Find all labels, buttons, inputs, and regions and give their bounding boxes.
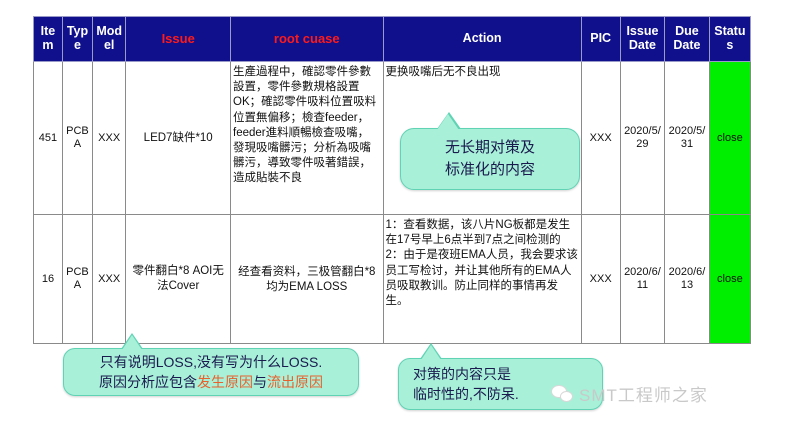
wechat-icon-bubble-small	[560, 391, 573, 402]
cell-item: 451	[34, 62, 63, 215]
cell-model: XXX	[92, 215, 125, 344]
callout-line-1: 只有说明LOSS,没有写为什么LOSS.	[100, 352, 322, 372]
cell-issue: 零件翻白*8 AOI无法Cover	[126, 215, 231, 344]
cell-root-cause: 生產過程中，確認零件參數設置，零件參數規格設置OK；確認零件吸料位置吸料位置無偏…	[231, 62, 384, 215]
status-badge: close	[709, 215, 750, 344]
callout-line-1: 无长期对策及	[445, 137, 535, 159]
callout-line-2: 临时性的,不防呆.	[413, 384, 519, 404]
column-header-issue: Issue	[126, 17, 231, 62]
callout-line-2: 标准化的内容	[445, 159, 535, 181]
cell-action: 1：查看数据，该八片NG板都是发生在17号早上6点半到7点之间检测的 2：由于是…	[383, 215, 581, 344]
callout-tail	[437, 114, 459, 130]
column-header-issue-date: Issue Date	[620, 17, 665, 62]
callout-line-2: 原因分析应包含发生原因与流出原因	[99, 372, 323, 392]
table-row: 451 PCBA XXX LED7缺件*10 生產過程中，確認零件參數設置，零件…	[34, 62, 751, 215]
cell-issue-date: 2020/5/29	[620, 62, 665, 215]
wechat-icon	[551, 385, 573, 403]
callout-highlight-occurrence-cause: 发生原因	[197, 374, 253, 390]
column-header-status: Status	[709, 17, 750, 62]
cell-due-date: 2020/5/31	[665, 62, 710, 215]
column-header-model: Model	[92, 17, 125, 62]
issue-tracking-table: Item Type Model Issue root cuase Action …	[33, 16, 751, 344]
watermark-text: SMT工程师之家	[579, 381, 708, 406]
status-badge: close	[709, 62, 750, 215]
cell-model: XXX	[92, 62, 125, 215]
column-header-item: Item	[34, 17, 63, 62]
cell-issue-date: 2020/6/11	[620, 215, 665, 344]
cell-type: PCBA	[62, 62, 92, 215]
cell-issue: LED7缺件*10	[126, 62, 231, 215]
watermark: SMT工程师之家	[551, 381, 708, 406]
table-row: 16 PCBA XXX 零件翻白*8 AOI无法Cover 经查看资料，三极管翻…	[34, 215, 751, 344]
cell-item: 16	[34, 215, 63, 344]
cell-root-cause: 经查看资料，三极管翻白*8均为EMA LOSS	[231, 215, 384, 344]
cell-pic: XXX	[581, 215, 620, 344]
column-header-root-cause: root cuase	[231, 17, 384, 62]
cell-type: PCBA	[62, 215, 92, 344]
callout-line-2-mid: 与	[253, 374, 267, 390]
column-header-pic: PIC	[581, 17, 620, 62]
column-header-action: Action	[383, 17, 581, 62]
cell-pic: XXX	[581, 62, 620, 215]
cell-due-date: 2020/6/13	[665, 215, 710, 344]
callout-tail	[421, 345, 441, 360]
callout-highlight-outflow-cause: 流出原因	[267, 374, 323, 390]
callout-no-longterm-countermeasure: 无长期对策及 标准化的内容	[400, 128, 580, 190]
column-header-due-date: Due Date	[665, 17, 710, 62]
callout-tail	[122, 335, 142, 350]
table-header-row: Item Type Model Issue root cuase Action …	[34, 17, 751, 62]
callout-line-1: 对策的内容只是	[413, 364, 511, 384]
callout-line-2-prefix: 原因分析应包含	[99, 374, 197, 390]
callout-loss-explanation: 只有说明LOSS,没有写为什么LOSS. 原因分析应包含发生原因与流出原因	[63, 348, 359, 396]
column-header-type: Type	[62, 17, 92, 62]
